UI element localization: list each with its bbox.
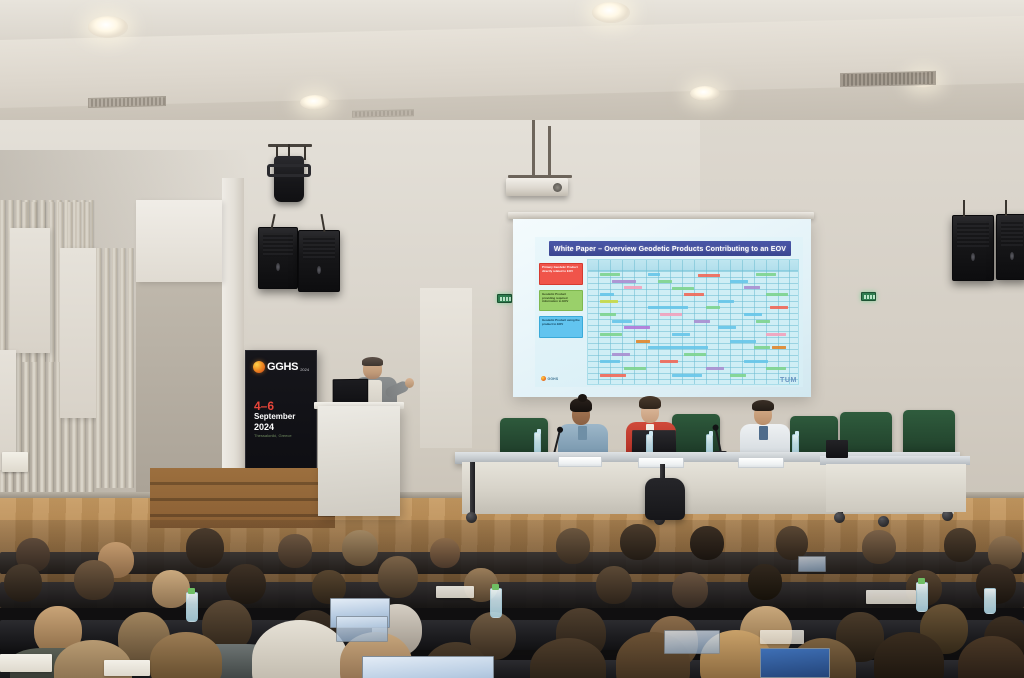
panelist-hair xyxy=(752,400,774,411)
presenter-hair xyxy=(362,357,383,366)
projector-lens-icon xyxy=(553,183,562,192)
side-table-monitor xyxy=(826,440,848,458)
name-card xyxy=(738,457,784,468)
ceiling-vent xyxy=(352,109,414,118)
audience-papers xyxy=(436,586,474,598)
audience-head xyxy=(226,564,266,604)
panelist-hair xyxy=(639,396,661,409)
panel-chair xyxy=(903,410,955,456)
banner-location: Thessaloniki, Greece xyxy=(254,433,292,438)
audience-head xyxy=(378,556,418,598)
audience-head xyxy=(690,526,724,560)
wall-panel xyxy=(60,248,96,418)
acoustic-slat-panel xyxy=(96,248,134,488)
audience-head xyxy=(152,570,190,608)
backpack xyxy=(645,478,685,520)
panelist-left xyxy=(558,398,610,460)
audience-head xyxy=(748,564,782,600)
downlight xyxy=(300,95,330,110)
wall-panel xyxy=(136,200,222,282)
audience-papers xyxy=(0,654,52,672)
panelist-lanyard xyxy=(759,426,768,440)
audience-laptop-screen[interactable] xyxy=(664,630,720,654)
projector-mount xyxy=(532,120,535,178)
light-yoke xyxy=(288,144,290,156)
slide-title: White Paper – Overview Geodetic Products… xyxy=(549,241,791,256)
exit-sign-icon xyxy=(861,292,876,301)
legend-item-using: Geodetic Product using the product to EO… xyxy=(539,316,583,338)
audience-head xyxy=(620,524,656,560)
banner-month: September xyxy=(254,412,295,421)
audience-head xyxy=(186,528,224,568)
projection-screen: White Paper – Overview Geodetic Products… xyxy=(513,219,811,397)
laptop-lid xyxy=(632,430,676,454)
audience-head xyxy=(596,566,632,604)
speaker-grille xyxy=(1001,220,1023,246)
audience-head xyxy=(278,534,312,568)
audience-laptop-screen[interactable] xyxy=(798,556,826,572)
gghs-globe-icon xyxy=(541,376,546,381)
stage-light xyxy=(274,156,304,202)
banner-globe-icon xyxy=(253,361,265,373)
audience-papers xyxy=(104,660,150,676)
ceiling-speaker xyxy=(952,215,994,281)
bottle-cap xyxy=(188,588,195,594)
ceiling-speaker xyxy=(298,230,340,292)
side-table-front xyxy=(826,464,966,512)
ceiling-speaker xyxy=(996,214,1024,280)
speaker-grille xyxy=(263,233,293,257)
banner-logo-text: GGHS xyxy=(267,361,298,373)
projector-mount xyxy=(548,126,551,178)
lecture-hall-photo: White Paper – Overview Geodetic Products… xyxy=(0,0,1024,678)
water-bottle xyxy=(534,432,541,454)
speaker-grille xyxy=(303,236,335,260)
audience-head xyxy=(430,538,460,568)
panelist-bun-icon xyxy=(578,394,587,402)
water-bottle xyxy=(186,592,198,622)
audience-head xyxy=(556,528,590,564)
legend-item-primary: Primary Geodetic Product directly relate… xyxy=(539,263,583,285)
audience-head xyxy=(828,566,866,604)
name-card xyxy=(558,456,602,467)
audience-laptop-screen[interactable] xyxy=(362,656,494,678)
audience-papers xyxy=(866,590,916,604)
water-bottle xyxy=(984,588,996,614)
banner-date: 4–6 xyxy=(254,399,274,413)
audience-area xyxy=(0,520,1024,678)
ceiling-speaker xyxy=(258,227,298,289)
speaker-hanger xyxy=(963,200,965,217)
rig-rod xyxy=(304,146,306,160)
slide-footer-logo: GGHS xyxy=(541,373,567,384)
banner-logo-subtitle: 2024 xyxy=(300,367,309,372)
podium-laptop xyxy=(333,379,369,405)
presenter-hand xyxy=(405,378,414,388)
lectern xyxy=(318,406,400,516)
wall-panel xyxy=(420,288,472,448)
screen-housing xyxy=(508,212,814,219)
wall-notice xyxy=(2,452,28,472)
wall-panel xyxy=(10,228,50,353)
ceiling-vent xyxy=(88,96,166,108)
bottle-cap xyxy=(492,584,499,590)
panelist-lanyard xyxy=(578,426,587,440)
slide-matrix-table xyxy=(587,259,799,385)
presentation-slide: White Paper – Overview Geodetic Products… xyxy=(535,237,803,387)
downlight xyxy=(690,86,720,101)
tum-logo: TUM xyxy=(780,377,797,384)
table-leg xyxy=(470,462,475,518)
legend-item-providing: Geodetic Product providing required info… xyxy=(539,290,583,311)
speaker-hanger xyxy=(1005,200,1007,216)
audience-laptop-screen[interactable] xyxy=(336,616,388,642)
water-bottle xyxy=(490,588,502,618)
slide-legend: Primary Geodetic Product directly relate… xyxy=(539,263,583,343)
audience-head xyxy=(862,530,896,564)
audience-papers xyxy=(760,630,804,644)
banner-year: 2024 xyxy=(254,422,274,432)
slide-logo-text: GGHS xyxy=(548,377,559,381)
bottle-cap xyxy=(918,578,925,584)
ceiling-projector xyxy=(506,178,568,196)
downlight xyxy=(592,2,630,23)
audience-laptop-screen[interactable] xyxy=(760,648,830,678)
audience-head xyxy=(776,526,808,560)
audience-head xyxy=(976,564,1016,604)
audience-head xyxy=(944,528,976,562)
speaker-grille xyxy=(957,221,989,247)
stage-steps xyxy=(150,468,335,528)
audience-head xyxy=(4,564,42,602)
downlight xyxy=(88,16,128,38)
panelist-right xyxy=(740,400,792,460)
exit-sign-icon xyxy=(497,294,512,303)
audience-head xyxy=(74,560,114,600)
water-bottle xyxy=(916,582,928,612)
audience-head xyxy=(342,530,378,566)
ceiling-vent xyxy=(840,71,936,87)
audience-head xyxy=(672,572,708,608)
